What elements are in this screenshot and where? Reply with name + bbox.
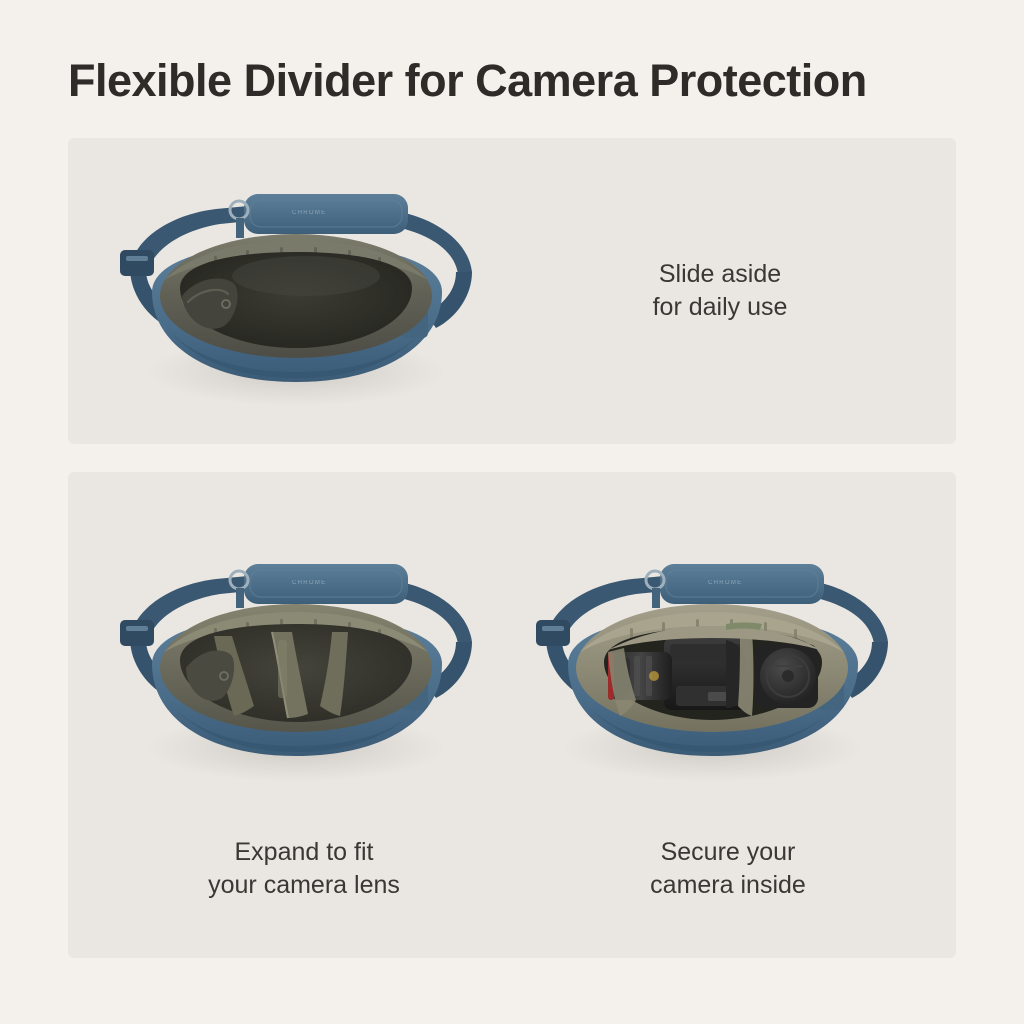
caption-expand-to-fit: Expand to fit your camera lens bbox=[124, 836, 484, 902]
strap-adjuster-buckle bbox=[536, 620, 570, 646]
product-infographic: Flexible Divider for Camera Protection bbox=[0, 0, 1024, 1024]
product-image-divider-slid-aside: CHROME bbox=[96, 176, 496, 416]
strap-adjuster-buckle bbox=[120, 250, 154, 276]
product-image-divider-expanded: CHROME bbox=[96, 540, 496, 790]
brand-logo: CHROME bbox=[708, 580, 742, 586]
page-title: Flexible Divider for Camera Protection bbox=[68, 56, 968, 106]
caption-secure-camera: Secure your camera inside bbox=[548, 836, 908, 902]
spare-lens-with-cap bbox=[756, 644, 818, 708]
shoulder-pad: CHROME bbox=[244, 194, 408, 234]
brand-logo: CHROME bbox=[292, 580, 326, 586]
brand-logo: CHROME bbox=[292, 210, 326, 216]
product-image-camera-secured: CHROME bbox=[512, 540, 912, 790]
caption-slide-aside: Slide aside for daily use bbox=[560, 258, 880, 324]
strap-adjuster-buckle bbox=[120, 620, 154, 646]
shoulder-pad: CHROME bbox=[660, 564, 824, 604]
shoulder-pad: CHROME bbox=[244, 564, 408, 604]
